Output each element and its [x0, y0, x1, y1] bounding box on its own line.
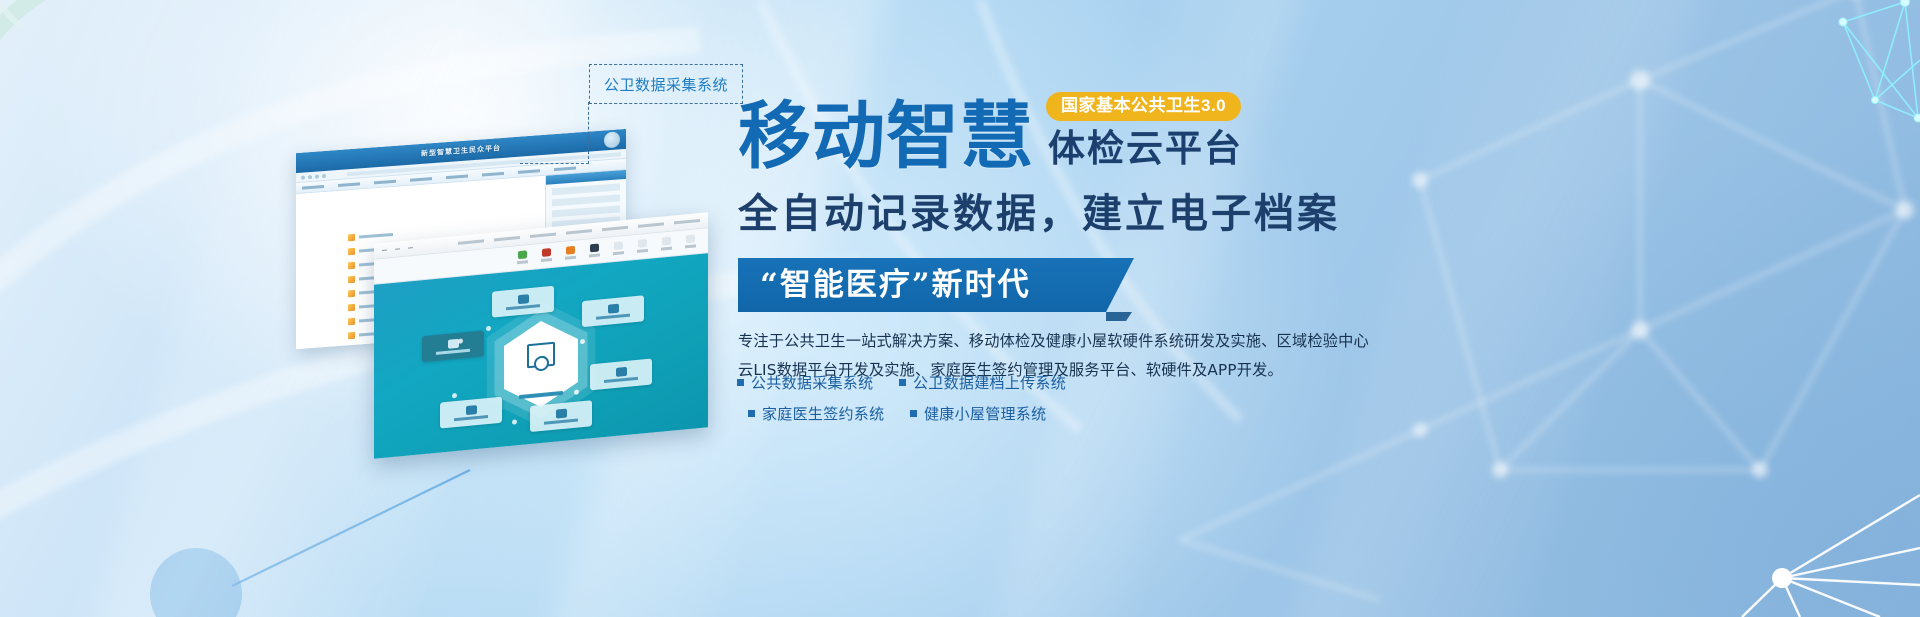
list-item[interactable]: 家庭医生签约系统	[737, 403, 885, 424]
status-badge: 国家基本公共卫生3.0	[1046, 92, 1241, 121]
hub-hexagon	[498, 317, 584, 411]
list-item[interactable]: 健康小屋管理系统	[899, 403, 1167, 424]
feature-label: 公共数据采集系统	[751, 372, 873, 393]
bullet-icon	[899, 379, 906, 386]
feature-list: 公共数据采集系统 公卫数据建档上传系统 家庭医生签约系统 健康小屋管理系统	[737, 372, 1167, 424]
diagram-node[interactable]	[440, 397, 502, 429]
slogan-ribbon: “智能医疗”新时代	[738, 258, 1134, 312]
headline-sub: 体检云平台	[1048, 126, 1243, 170]
callout-public-health-collection[interactable]: 公卫数据采集系统	[589, 64, 743, 104]
callout-leader-vertical	[588, 102, 590, 164]
list-item[interactable]: 公卫数据建档上传系统	[899, 372, 1167, 393]
ribbon-block: “智能医疗”新时代	[738, 258, 1138, 312]
diagram-node[interactable]	[530, 400, 592, 432]
ribbon-fold	[1106, 312, 1132, 321]
feature-label: 家庭医生签约系统	[762, 403, 884, 424]
headline-main: 移动智慧	[738, 98, 1034, 176]
callout-label: 公卫数据采集系统	[604, 74, 728, 95]
screenshot-health-check-dashboard[interactable]	[374, 212, 708, 459]
headline-block: 移动智慧 国家基本公共卫生3.0 体检云平台 全自动记录数据，建立电子档案 “智…	[738, 104, 1858, 312]
list-item[interactable]: 公共数据采集系统	[737, 372, 885, 393]
description-line-1: 专注于公共卫生一站式解决方案、移动体检及健康小屋软硬件系统研发及实施、区域检验中…	[738, 327, 1318, 356]
promo-banner: 新型智慧卫生民众平台	[0, 0, 1920, 617]
dna-helix-decoration	[0, 0, 170, 170]
feature-label: 健康小屋管理系统	[924, 403, 1046, 424]
search-document-icon	[527, 342, 555, 369]
front-window-hexagon-diagram	[374, 253, 708, 459]
back-window-title: 新型智慧卫生民众平台	[421, 143, 501, 159]
diagram-node[interactable]	[422, 330, 484, 362]
headline-secondary-line: 全自动记录数据，建立电子档案	[738, 188, 1858, 240]
bullet-icon	[910, 410, 917, 417]
callout-leader-horizontal	[520, 163, 589, 165]
bullet-icon	[748, 410, 755, 417]
diagram-node[interactable]	[582, 295, 644, 327]
feature-label: 公卫数据建档上传系统	[913, 372, 1066, 393]
slogan-text: “智能医疗”新时代	[738, 258, 1031, 312]
bullet-icon	[737, 379, 744, 386]
back-window-avatar	[604, 131, 620, 148]
headline-row: 移动智慧 国家基本公共卫生3.0 体检云平台	[738, 104, 1858, 182]
diagram-node[interactable]	[590, 359, 652, 391]
